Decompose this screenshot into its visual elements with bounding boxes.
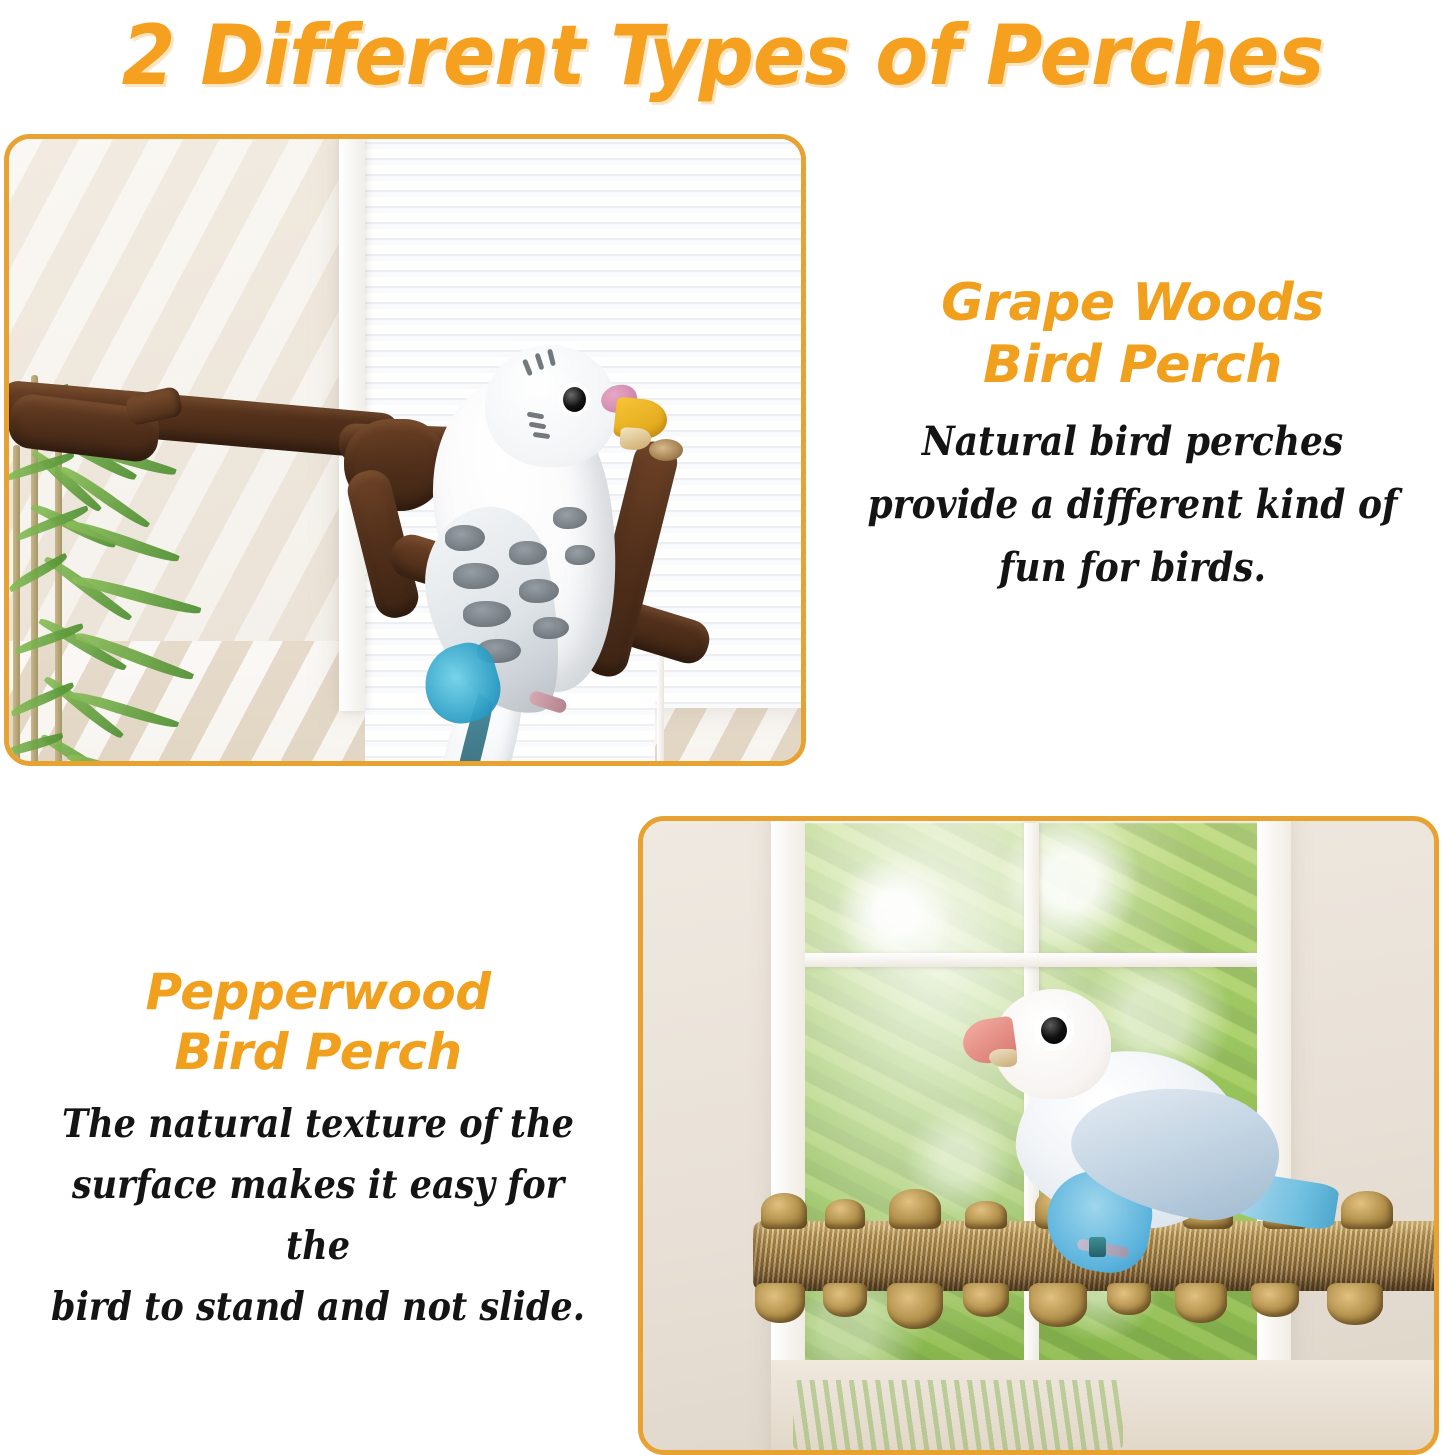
pepperwood-text-block: Pepperwood Bird Perch The natural textur… — [8, 962, 628, 1338]
lovebird-leg-band — [1089, 1237, 1106, 1257]
pepperwood-heading: Pepperwood Bird Perch — [8, 962, 628, 1082]
pepperwood-description-line1: The natural texture of the — [39, 1094, 597, 1155]
budgie-bird — [423, 329, 683, 761]
pepperwood-heading-line1: Pepperwood — [8, 962, 628, 1022]
lovebird-bird — [969, 981, 1299, 1281]
pepperwood-scene — [643, 821, 1434, 1450]
budgie-eye — [563, 387, 586, 412]
foliage-grass — [793, 1380, 1123, 1450]
grape-woods-description-line2: provide a different kind of — [851, 473, 1414, 536]
pepperwood-description: The natural texture of the surface makes… — [39, 1094, 597, 1338]
pepperwood-photo-panel — [638, 816, 1439, 1455]
grape-woods-description-line3: fun for birds. — [851, 536, 1414, 599]
pepperwood-description-line3: bird to stand and not slide. — [39, 1277, 597, 1338]
pepperwood-description-line2: surface makes it easy for the — [39, 1155, 597, 1277]
page-title: 2 Different Types of Perches — [51, 4, 1395, 108]
lovebird-eye — [1041, 1017, 1067, 1044]
grape-woods-scene — [9, 139, 801, 761]
lovebird-lower-beak — [989, 1049, 1017, 1067]
grape-woods-description-line1: Natural bird perches — [851, 410, 1414, 473]
grape-woods-heading-line2: Bird Perch — [820, 334, 1445, 396]
grape-woods-heading: Grape Woods Bird Perch — [820, 272, 1445, 396]
grape-woods-description: Natural bird perches provide a different… — [851, 410, 1414, 599]
grape-woods-text-block: Grape Woods Bird Perch Natural bird perc… — [820, 272, 1445, 599]
grape-woods-photo-panel — [4, 134, 806, 766]
budgie-lower-beak — [619, 427, 651, 451]
pepperwood-heading-line2: Bird Perch — [8, 1022, 628, 1082]
infographic-page: 2 Different Types of Perches — [0, 0, 1445, 1455]
grape-woods-heading-line1: Grape Woods — [820, 272, 1445, 334]
